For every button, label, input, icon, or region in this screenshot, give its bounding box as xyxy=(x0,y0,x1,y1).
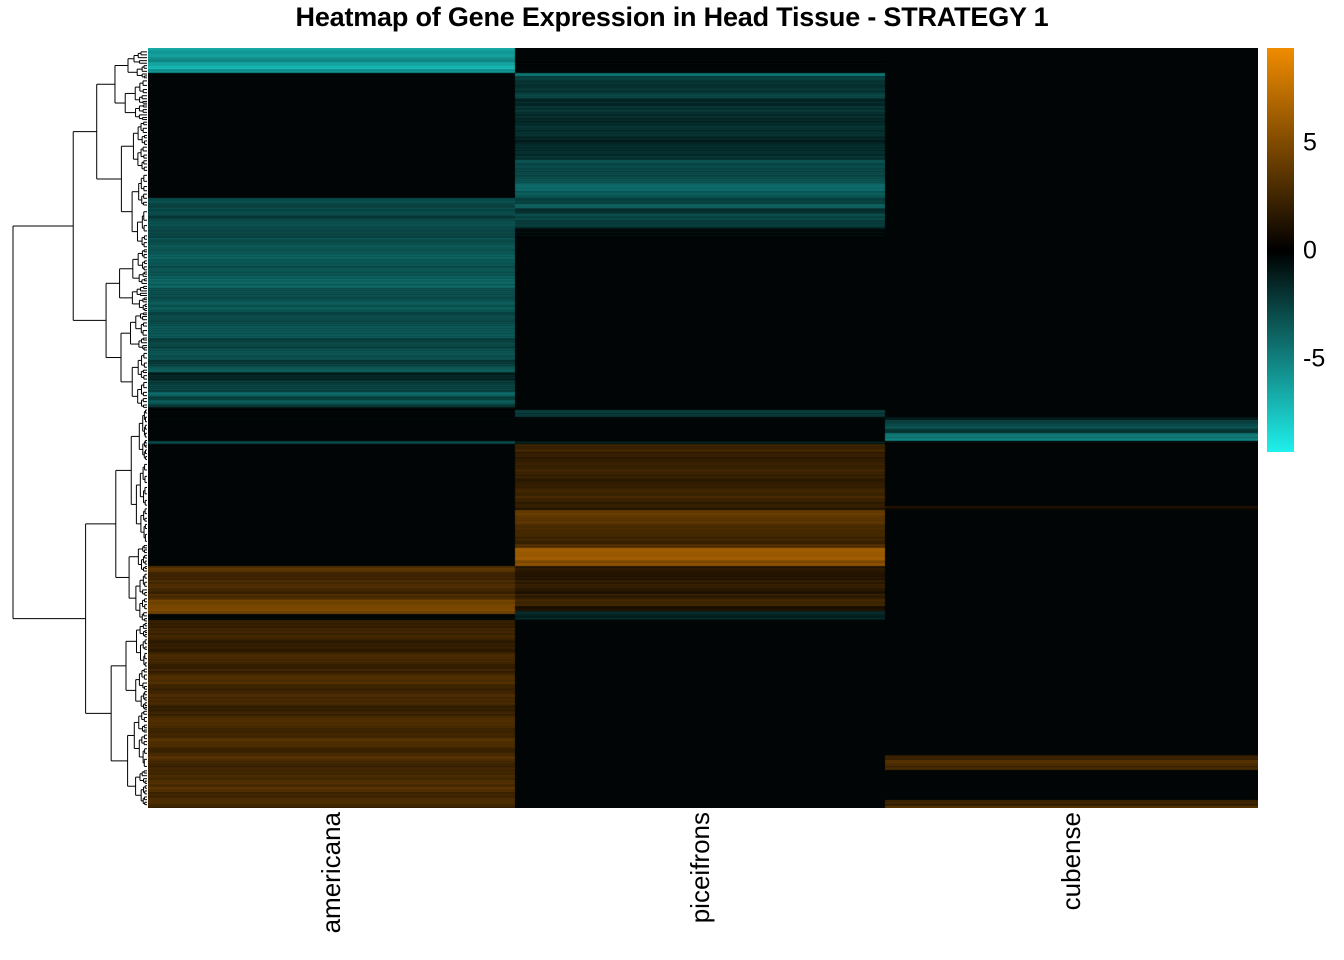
dendrogram-canvas xyxy=(10,48,148,808)
page-title: Heatmap of Gene Expression in Head Tissu… xyxy=(0,2,1344,33)
colorbar xyxy=(1267,48,1294,452)
column-label-cubense: cubense xyxy=(1058,812,1084,910)
column-label-americana: americana xyxy=(318,812,344,933)
row-dendrogram xyxy=(10,48,148,808)
color-legend: 5 0 -5 xyxy=(1267,48,1344,452)
legend-tick-neg5: -5 xyxy=(1303,345,1325,374)
heatmap-grid xyxy=(148,48,1258,808)
legend-tick-0: 0 xyxy=(1303,237,1317,266)
legend-tick-5: 5 xyxy=(1303,129,1317,158)
column-label-piceifrons: piceifrons xyxy=(687,812,713,923)
heatmap-figure: Heatmap of Gene Expression in Head Tissu… xyxy=(0,0,1344,960)
heatmap-canvas xyxy=(148,48,1258,808)
